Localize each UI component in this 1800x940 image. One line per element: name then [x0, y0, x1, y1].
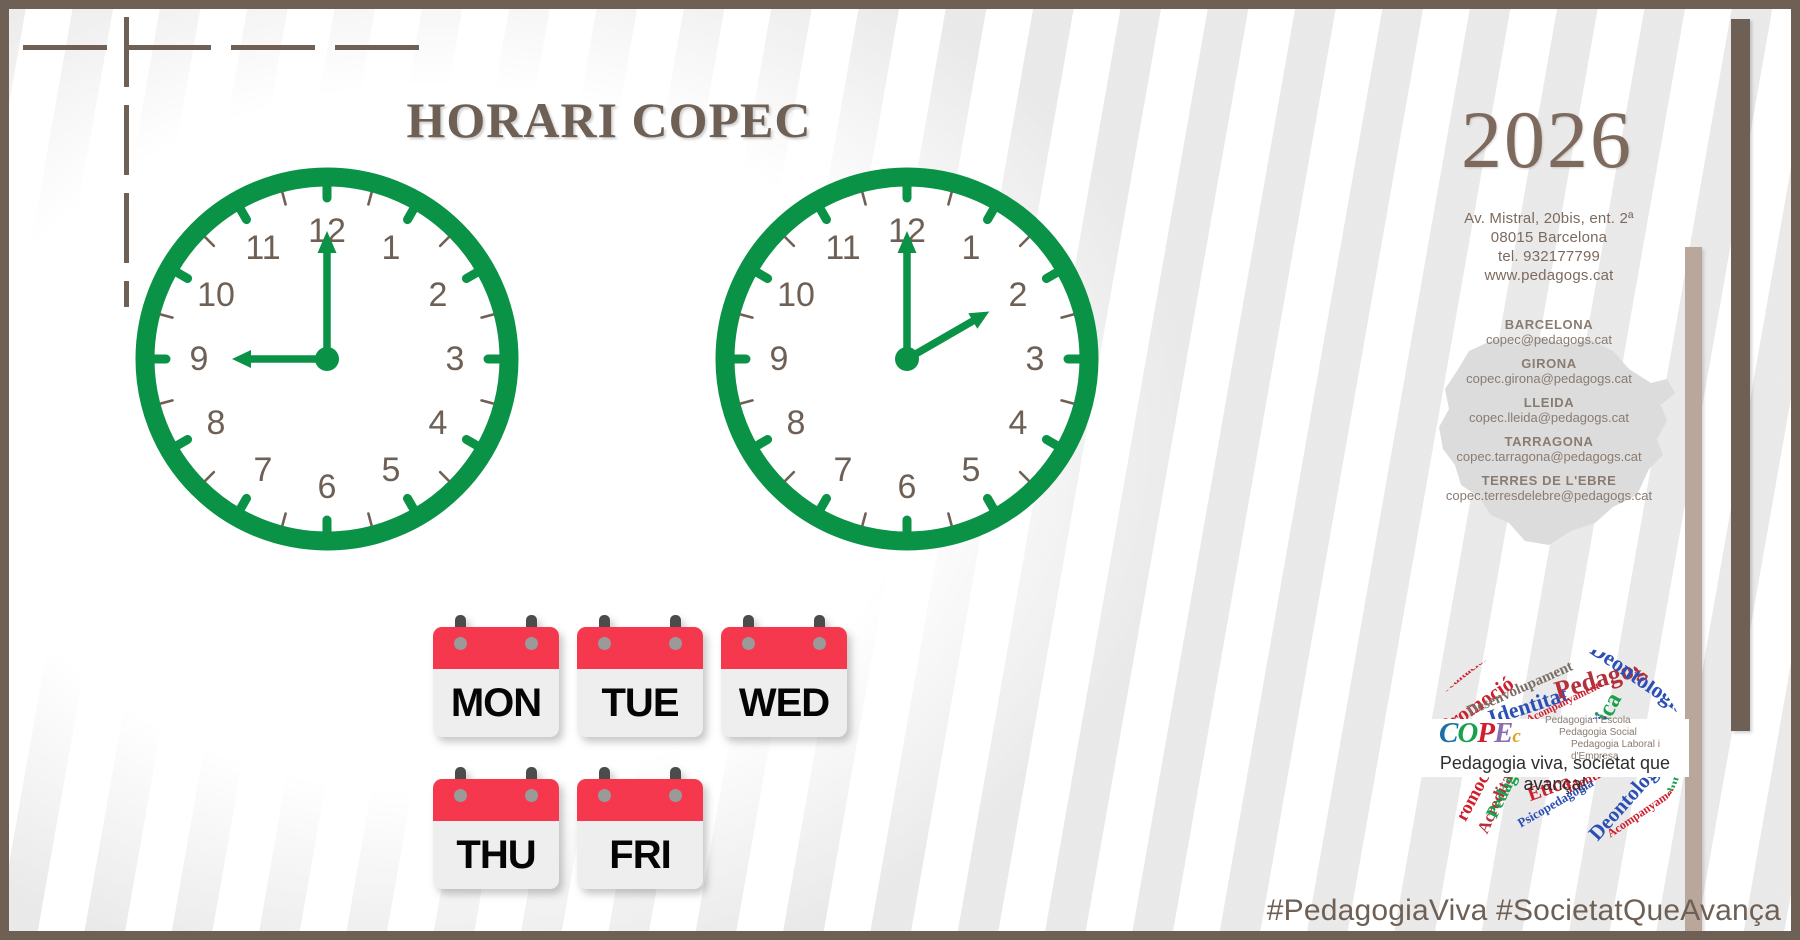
- day-label: MON: [433, 669, 559, 737]
- day-card-thu[interactable]: THU: [433, 767, 559, 889]
- calendar-ring-hole: [454, 789, 467, 802]
- svg-text:9: 9: [190, 340, 209, 378]
- svg-text:2: 2: [429, 276, 448, 314]
- office-city: TERRES DE L'EBRE: [1399, 473, 1699, 488]
- morning-clock: 12 1 2 3 4 5 6 7 8 9 10 11: [107, 159, 547, 559]
- day-card-fri[interactable]: FRI: [577, 767, 703, 889]
- office-city: BARCELONA: [1399, 317, 1699, 332]
- calendar-ring-hole: [598, 789, 611, 802]
- calendar-header: [577, 779, 703, 821]
- svg-text:7: 7: [254, 451, 273, 489]
- office-email[interactable]: copec.lleida@pedagogs.cat: [1399, 410, 1699, 425]
- office-city: GIRONA: [1399, 356, 1699, 371]
- logo-tagline: Pedagogia viva, societat que avança!: [1421, 753, 1689, 795]
- address-street: Av. Mistral, 20bis, ent. 2ª: [1409, 209, 1689, 228]
- decorative-dark-vertical-bar: [1731, 19, 1750, 731]
- calendar-header: [721, 627, 847, 669]
- hashtags: #PedagogiaViva #SocietatQueAvança: [1029, 894, 1781, 928]
- day-label: FRI: [577, 821, 703, 889]
- office-email[interactable]: copec.tarragona@pedagogs.cat: [1399, 449, 1699, 464]
- brand-letter-e: E: [1494, 717, 1512, 749]
- svg-text:6: 6: [318, 468, 337, 506]
- clock-center-pin: [315, 347, 339, 371]
- service-line: Pedagogia Social: [1537, 727, 1689, 739]
- calendar-ring-hole: [813, 637, 826, 650]
- svg-text:9: 9: [770, 340, 789, 378]
- morning-clock-face: 12 1 2 3 4 5 6 7 8 9 10 11: [107, 159, 547, 559]
- brand-letter-c: C: [1439, 717, 1457, 749]
- calendar-ring-hole: [598, 637, 611, 650]
- calendar-ring-hole: [669, 789, 682, 802]
- copec-logo-block: Promoció Acreditacions Identitat Pedagog…: [1421, 647, 1689, 847]
- svg-text:4: 4: [429, 404, 448, 442]
- svg-text:3: 3: [446, 340, 465, 378]
- day-card-wed[interactable]: WED: [721, 615, 847, 737]
- brand-letter-o: O: [1457, 717, 1477, 749]
- svg-text:3: 3: [1026, 340, 1045, 378]
- office-email[interactable]: copec.terresdelebre@pedagogs.cat: [1399, 488, 1699, 503]
- svg-text:11: 11: [245, 229, 280, 267]
- calendar-ring-hole: [454, 637, 467, 650]
- decorative-dashed-horizontal-line: [23, 45, 437, 50]
- brand-letter-c2: c: [1512, 726, 1519, 747]
- office-item: TARRAGONA copec.tarragona@pedagogs.cat: [1399, 434, 1699, 464]
- office-city: LLEIDA: [1399, 395, 1699, 410]
- day-label: WED: [721, 669, 847, 737]
- afternoon-clock-face: 12 1 2 3 4 5 6 7 8 9 10 11: [687, 159, 1127, 559]
- svg-text:1: 1: [382, 229, 401, 267]
- calendar-ring-hole: [525, 789, 538, 802]
- day-label: TUE: [577, 669, 703, 737]
- copec-wordmark: COPEc: [1439, 717, 1520, 750]
- svg-text:5: 5: [962, 451, 981, 489]
- page-title: HORARI COPEC: [9, 91, 1209, 149]
- svg-text:7: 7: [834, 451, 853, 489]
- svg-text:2: 2: [1009, 276, 1028, 314]
- office-email[interactable]: copec@pedagogs.cat: [1399, 332, 1699, 347]
- catalonia-map-block: BARCELONA copec@pedagogs.cat GIRONA cope…: [1399, 309, 1699, 564]
- svg-text:10: 10: [197, 276, 235, 314]
- contact-address-block: Av. Mistral, 20bis, ent. 2ª 08015 Barcel…: [1409, 209, 1689, 285]
- calendar-ring-hole: [742, 637, 755, 650]
- service-line: Pedagogia i Escola: [1537, 715, 1689, 727]
- day-card-mon[interactable]: MON: [433, 615, 559, 737]
- svg-text:10: 10: [777, 276, 815, 314]
- clock-center-pin: [895, 347, 919, 371]
- address-city: 08015 Barcelona: [1409, 228, 1689, 247]
- svg-text:8: 8: [787, 404, 806, 442]
- calendar-header: [433, 627, 559, 669]
- calendar-ring-hole: [525, 637, 538, 650]
- address-phone: tel. 932177799: [1409, 247, 1689, 266]
- office-item: BARCELONA copec@pedagogs.cat: [1399, 317, 1699, 347]
- svg-text:8: 8: [207, 404, 226, 442]
- calendar-header: [577, 627, 703, 669]
- poster-canvas: HORARI COPEC: [0, 0, 1800, 940]
- svg-text:5: 5: [382, 451, 401, 489]
- day-card-tue[interactable]: TUE: [577, 615, 703, 737]
- calendar-header: [433, 779, 559, 821]
- afternoon-clock: 12 1 2 3 4 5 6 7 8 9 10 11: [687, 159, 1127, 559]
- brand-letter-p: P: [1477, 717, 1494, 749]
- office-email[interactable]: copec.girona@pedagogs.cat: [1399, 371, 1699, 386]
- year-label: 2026: [1427, 93, 1667, 187]
- office-city: TARRAGONA: [1399, 434, 1699, 449]
- office-list: BARCELONA copec@pedagogs.cat GIRONA cope…: [1399, 309, 1699, 512]
- svg-text:1: 1: [962, 229, 981, 267]
- office-item: GIRONA copec.girona@pedagogs.cat: [1399, 356, 1699, 386]
- office-item: LLEIDA copec.lleida@pedagogs.cat: [1399, 395, 1699, 425]
- address-web: www.pedagogs.cat: [1409, 266, 1689, 285]
- svg-text:6: 6: [898, 468, 917, 506]
- svg-text:4: 4: [1009, 404, 1028, 442]
- office-item: TERRES DE L'EBRE copec.terresdelebre@ped…: [1399, 473, 1699, 503]
- svg-text:11: 11: [825, 229, 860, 267]
- calendar-ring-hole: [669, 637, 682, 650]
- day-label: THU: [433, 821, 559, 889]
